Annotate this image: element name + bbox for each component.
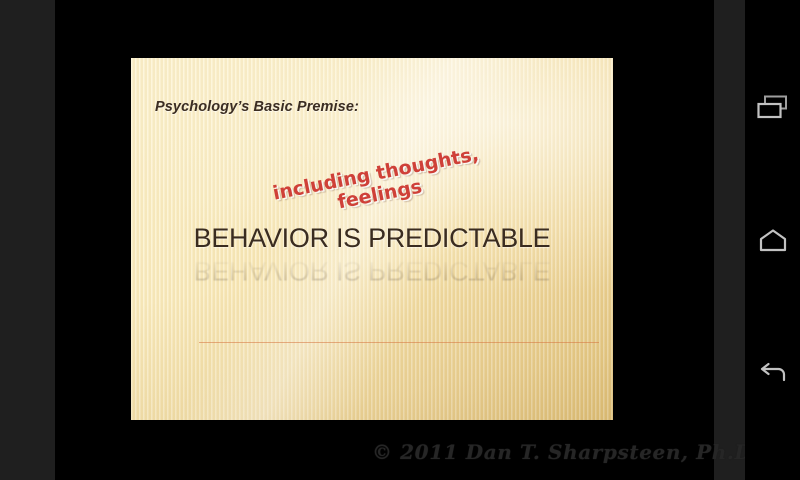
home-button[interactable]	[745, 210, 800, 270]
slide-annotation-text: including thoughts, feelings	[261, 142, 495, 226]
bezel-left	[0, 0, 55, 480]
back-button[interactable]	[745, 343, 800, 403]
slide-headline: BEHAVIOR IS PREDICTABLE	[131, 223, 613, 254]
device-screen: Psychology’s Basic Premise: including th…	[0, 0, 800, 480]
slide-headline-group: BEHAVIOR IS PREDICTABLE BEHAVIOR IS PRED…	[131, 223, 613, 286]
recent-apps-icon	[756, 93, 790, 121]
android-navigation-bar	[745, 0, 800, 480]
copyright-notice: © 2011 Dan T. Sharpsteen, Ph.D.	[372, 440, 759, 464]
bezel-right	[714, 0, 745, 480]
slide-divider-rule	[199, 342, 599, 343]
back-icon	[756, 359, 790, 387]
home-icon	[756, 226, 790, 254]
recent-apps-button[interactable]	[745, 77, 800, 137]
slide-title: Psychology’s Basic Premise:	[155, 99, 359, 115]
presentation-slide[interactable]: Psychology’s Basic Premise: including th…	[131, 58, 613, 420]
slide-headline-reflection: BEHAVIOR IS PREDICTABLE	[131, 255, 613, 286]
